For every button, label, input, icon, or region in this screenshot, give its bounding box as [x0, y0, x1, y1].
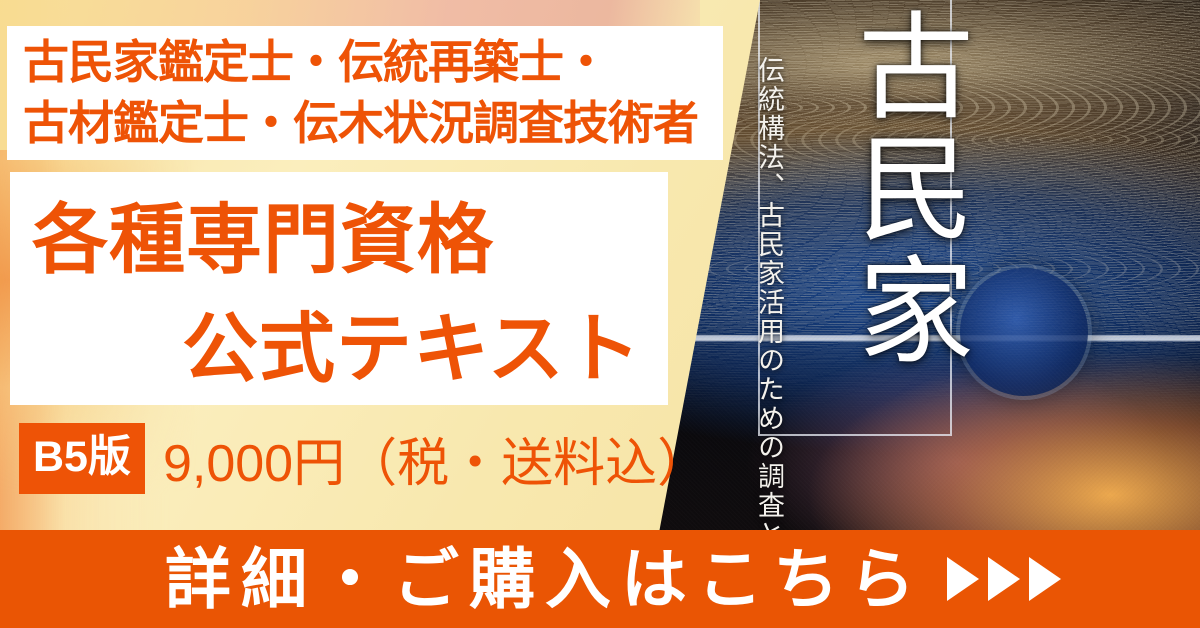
main-headline-line-2: 公式テキスト	[10, 295, 668, 404]
chevron-right-icon	[1029, 557, 1061, 601]
cover-title: 古民家	[838, 6, 968, 372]
price-row: B5版 9,000円（税・送料込）	[19, 422, 709, 494]
main-headline: 各種専門資格 公式テキスト	[10, 172, 668, 405]
main-headline-line-1: 各種専門資格	[10, 186, 668, 295]
cta-bar[interactable]: 詳細・ご購入はこちら	[0, 530, 1200, 628]
promo-banner: 古民家 伝統構法、古民家活用のための調査と再生の 古民家鑑定士・伝統再築士・ 古…	[0, 0, 1200, 628]
heading-line-2: 古材鑑定士・伝木状況調査技術者	[23, 93, 698, 154]
size-badge: B5版	[19, 423, 145, 494]
qualification-heading: 古民家鑑定士・伝統再築士・ 古材鑑定士・伝木状況調査技術者	[7, 26, 723, 160]
heading-line-1: 古民家鑑定士・伝統再築士・	[23, 32, 608, 93]
chevron-right-icon	[947, 557, 979, 601]
chevron-right-icon	[988, 557, 1020, 601]
price-text: 9,000円（税・送料込）	[163, 421, 709, 496]
cta-label[interactable]: 詳細・ご購入はこちら	[139, 546, 925, 612]
cover-subtitle: 伝統構法、古民家活用のための調査と再生の	[751, 56, 786, 538]
cta-arrow-group	[947, 557, 1061, 601]
